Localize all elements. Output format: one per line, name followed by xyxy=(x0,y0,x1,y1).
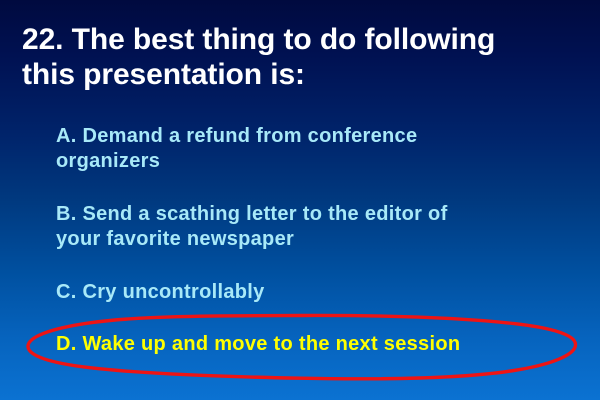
slide-title: 22. The best thing to do following this … xyxy=(22,22,578,92)
answer-option-d[interactable]: D. Wake up and move to the next session xyxy=(56,332,576,357)
presentation-slide: 22. The best thing to do following this … xyxy=(0,0,600,400)
answer-option-c[interactable]: C. Cry uncontrollably xyxy=(56,280,576,305)
answer-options-list: A. Demand a refund from conference organ… xyxy=(56,124,576,357)
answer-option-b[interactable]: B. Send a scathing letter to the editor … xyxy=(56,202,576,252)
answer-option-a[interactable]: A. Demand a refund from conference organ… xyxy=(56,124,576,174)
